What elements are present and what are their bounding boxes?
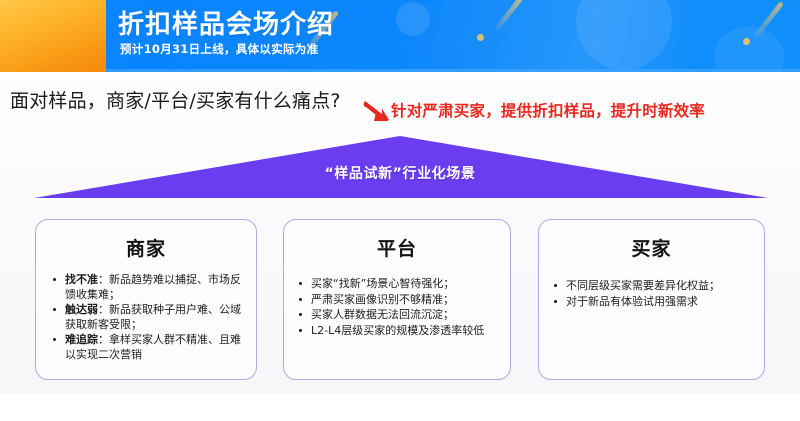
card-platform[interactable]: 平台 买家“找新”场景心智待强化； 严肃买家画像识别不够精准； 买家人群数据无法…: [283, 219, 511, 380]
list-item: L2-L4层级买家的规模及渗透率较低: [296, 324, 500, 339]
shooting-star-icon: [494, 0, 523, 31]
scenario-banner-label: “样品试新”行业化场景: [0, 163, 800, 183]
decorative-circle-icon: [576, 0, 672, 70]
bullet-lead: 触达弱: [65, 303, 98, 316]
card-bullet-list: 不同层级买家需要差异化权益； 对于新品有体验试用强需求: [539, 279, 764, 309]
list-item: 严肃买家画像识别不够精准；: [296, 293, 500, 308]
arrow-down-right-icon: [362, 98, 392, 124]
header-underline: [106, 69, 800, 72]
card-bullet-list: 找不准：新品趋势难以捕捉、市场反馈收集难； 触达弱：新品获取种子用户难、公域获取…: [36, 273, 256, 362]
callout-text: 针对严肃买家，提供折扣样品，提升时新效率: [391, 99, 705, 121]
card-merchant[interactable]: 商家 找不准：新品趋势难以捕捉、市场反馈收集难； 触达弱：新品获取种子用户难、公…: [35, 219, 257, 380]
list-item: 找不准：新品趋势难以捕捉、市场反馈收集难；: [48, 273, 246, 302]
pain-point-cards: 商家 找不准：新品趋势难以捕捉、市场反馈收集难； 触达弱：新品获取种子用户难、公…: [0, 219, 800, 380]
header-title: 折扣样品会场介绍: [118, 4, 334, 41]
star-dot-icon: [477, 34, 484, 41]
card-title: 商家: [36, 234, 256, 261]
list-item: 买家人群数据无法回流沉淀；: [296, 308, 500, 323]
card-title: 买家: [539, 234, 764, 261]
list-item: 对于新品有体验试用强需求: [551, 295, 754, 310]
question-heading: 面对样品，商家/平台/买家有什么痛点?: [10, 86, 341, 113]
star-dot-icon: [743, 38, 750, 45]
list-item: 触达弱：新品获取种子用户难、公域获取新客受限；: [48, 303, 246, 332]
slide-header: 折扣样品会场介绍 预计10月31日上线，具体以实际为准: [0, 0, 800, 72]
list-item: 不同层级买家需要差异化权益；: [551, 279, 754, 294]
decorative-circle-icon: [396, 2, 430, 36]
bullet-lead: 找不准: [65, 273, 98, 286]
header-orange-accent: [0, 0, 106, 72]
card-buyer[interactable]: 买家 不同层级买家需要差异化权益； 对于新品有体验试用强需求: [538, 219, 765, 380]
list-item: 难追踪：拿样买家人群不精准、且难以实现二次营销: [48, 333, 246, 362]
slide-canvas: 折扣样品会场介绍 预计10月31日上线，具体以实际为准 面对样品，商家/平台/买…: [0, 0, 800, 421]
card-bullet-list: 买家“找新”场景心智待强化； 严肃买家画像识别不够精准； 买家人群数据无法回流沉…: [284, 277, 510, 338]
header-subtitle: 预计10月31日上线，具体以实际为准: [120, 41, 318, 57]
bullet-lead: 难追踪: [65, 333, 98, 346]
list-item: 买家“找新”场景心智待强化；: [296, 277, 500, 292]
header-blue-banner: 折扣样品会场介绍 预计10月31日上线，具体以实际为准: [106, 0, 800, 72]
decorative-circle-icon: [714, 26, 784, 72]
card-title: 平台: [284, 234, 510, 261]
